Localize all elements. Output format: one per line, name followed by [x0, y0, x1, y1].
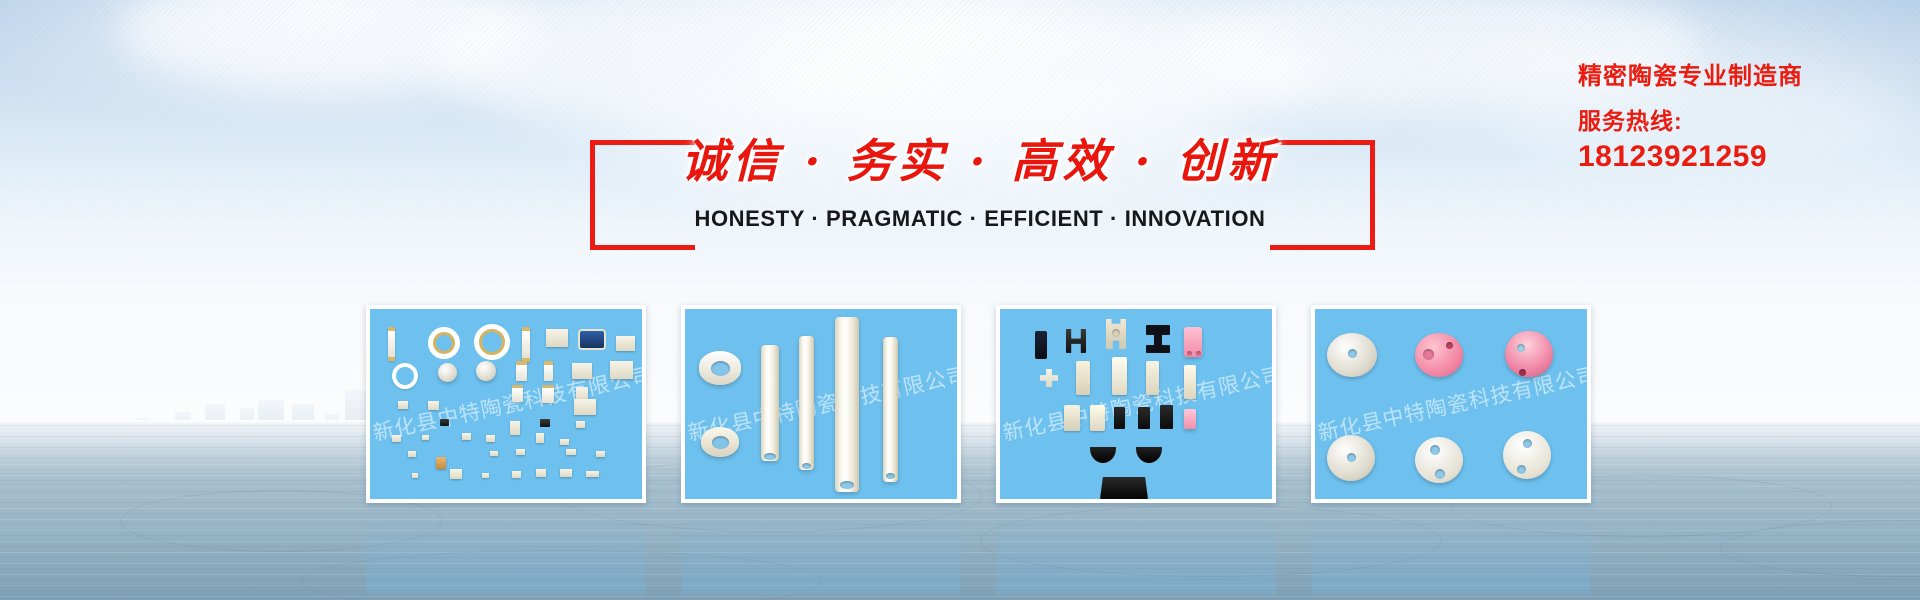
product-part — [886, 473, 895, 479]
product-part — [546, 329, 568, 347]
product-part — [764, 453, 776, 460]
product-part — [1517, 465, 1526, 474]
product-part — [1090, 405, 1105, 431]
slogan-chinese: 诚信 · 务实 · 高效 · 创新 — [660, 130, 1300, 192]
product-part — [610, 361, 633, 379]
product-part — [1136, 447, 1162, 463]
product-part — [1523, 439, 1532, 448]
product-part — [1040, 369, 1058, 387]
product-part — [476, 361, 496, 381]
panel-reflection — [1311, 509, 1591, 595]
product-part — [510, 421, 520, 435]
product-part — [536, 433, 544, 443]
product-part — [1066, 329, 1086, 353]
product-part — [566, 449, 576, 455]
product-part — [580, 331, 604, 348]
product-part — [840, 481, 854, 489]
product-part — [1064, 405, 1080, 431]
product-part — [1505, 331, 1553, 377]
product-part — [540, 419, 550, 427]
product-part — [428, 327, 460, 359]
panel-reflection — [366, 509, 646, 595]
product-part — [1184, 365, 1196, 399]
product-part — [883, 337, 898, 482]
product-part — [512, 385, 523, 402]
product-part — [835, 317, 859, 492]
watermark: 新化县中特陶瓷科技有限公司 — [996, 356, 1276, 450]
product-part — [482, 473, 489, 478]
product-part — [516, 449, 525, 455]
product-part — [1435, 469, 1445, 479]
product-part — [392, 363, 418, 389]
hotline-label: 服务热线: — [1578, 106, 1908, 136]
product-part — [1347, 453, 1356, 462]
product-part — [1112, 357, 1127, 395]
product-part — [392, 435, 401, 442]
product-panel-3[interactable]: 新化县中特陶瓷科技有限公司 — [996, 305, 1276, 503]
product-part — [436, 457, 446, 469]
product-part — [711, 361, 730, 376]
product-part — [1187, 351, 1192, 356]
product-part — [1100, 477, 1148, 499]
product-part — [388, 327, 395, 361]
product-part — [1112, 329, 1120, 337]
product-part — [450, 469, 462, 479]
product-part — [596, 451, 605, 457]
product-part — [516, 361, 527, 381]
product-part — [1146, 345, 1170, 353]
product-part — [1517, 344, 1525, 352]
product-part — [1196, 351, 1201, 356]
product-part — [574, 399, 596, 415]
product-part — [1160, 405, 1173, 429]
slogan-english: HONESTY · PRAGMATIC · EFFICIENT · INNOVA… — [660, 206, 1300, 232]
product-part — [1184, 409, 1196, 429]
product-part — [486, 435, 495, 442]
product-part — [1423, 349, 1434, 360]
product-part — [1076, 361, 1090, 395]
product-part — [586, 471, 599, 477]
product-part — [542, 385, 554, 403]
product-part — [536, 469, 546, 477]
panel-reflection — [681, 509, 961, 595]
product-part — [712, 436, 729, 449]
product-panel-2[interactable]: 新化县中特陶瓷科技有限公司 — [681, 305, 961, 503]
product-part — [572, 363, 592, 379]
product-part — [1146, 361, 1159, 395]
product-part — [1114, 407, 1125, 429]
product-part — [560, 469, 572, 477]
product-part — [761, 345, 779, 461]
hotline-number[interactable]: 18123921259 — [1578, 139, 1908, 175]
product-part — [1348, 349, 1357, 358]
panel-reflection — [996, 509, 1276, 595]
product-gallery: 新化县中特陶瓷科技有限公司 新化县中特陶瓷科技有限公司 新化县中特陶瓷科技有限公… — [366, 305, 1586, 505]
company-tagline: 精密陶瓷专业制造商 — [1578, 62, 1908, 92]
product-part — [408, 451, 416, 457]
product-part — [1430, 445, 1440, 455]
product-part — [799, 336, 814, 470]
slogan-block: 诚信 · 务实 · 高效 · 创新 HONESTY · PRAGMATIC · … — [590, 140, 1370, 250]
product-part — [544, 361, 553, 381]
product-part — [474, 324, 510, 360]
product-part — [428, 401, 439, 410]
product-panel-4[interactable]: 新化县中特陶瓷科技有限公司 — [1311, 305, 1591, 503]
product-part — [422, 435, 429, 440]
product-part — [522, 327, 530, 362]
product-part — [616, 336, 635, 351]
product-part — [440, 419, 449, 426]
product-part — [1090, 447, 1116, 463]
product-part — [490, 451, 498, 456]
product-panel-1[interactable]: 新化县中特陶瓷科技有限公司 — [366, 305, 646, 503]
product-part — [1138, 407, 1150, 429]
product-part — [1446, 342, 1453, 349]
product-part — [438, 363, 457, 382]
product-part — [576, 421, 585, 428]
hero-banner: 诚信 · 务实 · 高效 · 创新 HONESTY · PRAGMATIC · … — [0, 0, 1920, 600]
product-part — [398, 401, 408, 409]
product-part — [462, 433, 471, 440]
product-part — [412, 473, 418, 478]
contact-block: 精密陶瓷专业制造商 服务热线: 18123921259 — [1578, 62, 1908, 175]
product-part — [560, 439, 569, 445]
product-part — [1519, 369, 1526, 376]
product-part — [1035, 331, 1047, 359]
product-part — [512, 471, 521, 478]
product-part — [802, 463, 811, 469]
